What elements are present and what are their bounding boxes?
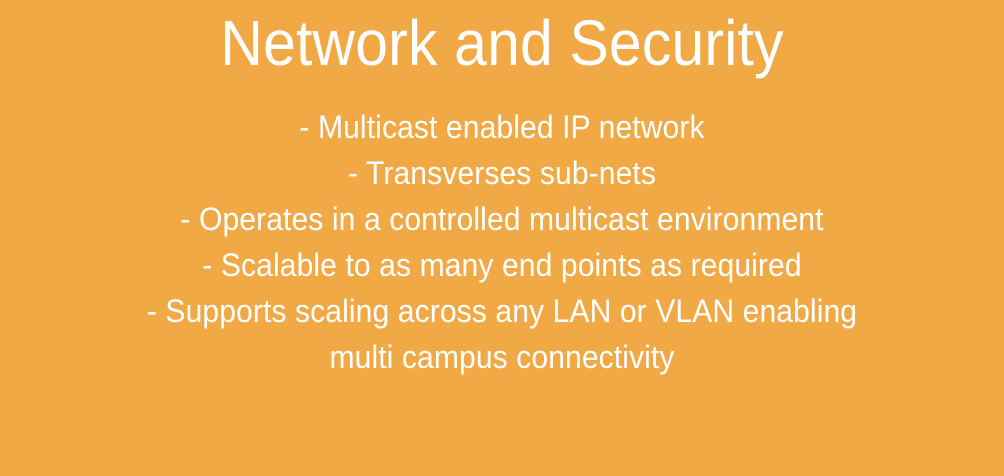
bullet-list: - Multicast enabled IP network - Transve… bbox=[0, 104, 1004, 380]
bullet-item: - Transverses sub-nets bbox=[30, 150, 974, 196]
bullet-item: - Scalable to as many end points as requ… bbox=[30, 242, 974, 288]
slide-title: Network and Security bbox=[40, 0, 964, 86]
bullet-item: - Operates in a controlled multicast env… bbox=[30, 196, 974, 242]
bullet-item: - Supports scaling across any LAN or VLA… bbox=[30, 288, 974, 380]
presentation-slide: Network and Security - Multicast enabled… bbox=[0, 0, 1004, 476]
bullet-item: - Multicast enabled IP network bbox=[30, 104, 974, 150]
